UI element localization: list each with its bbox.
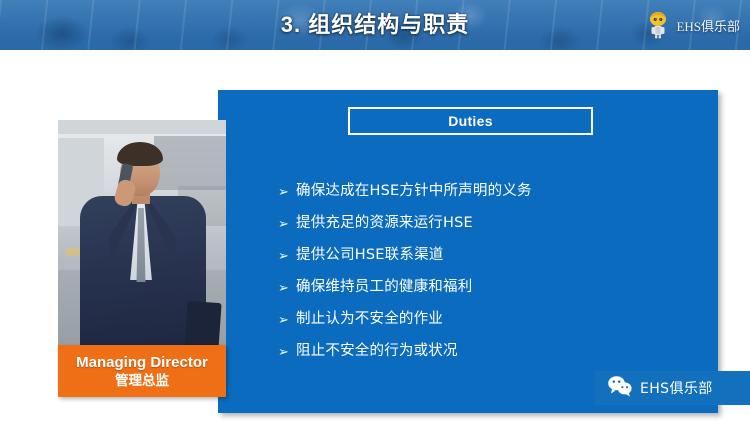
duties-title-box: Duties: [348, 107, 593, 135]
list-item-label: 确保维持员工的健康和福利: [296, 278, 472, 297]
caption-title-cn: 管理总监: [115, 372, 169, 390]
list-item: ➢ 阻止不安全的行为或状况: [278, 342, 698, 361]
wechat-watermark: EHS俱乐部: [595, 371, 750, 405]
caption-title-en: Managing Director: [76, 353, 208, 372]
arrow-bullet-icon: ➢: [278, 278, 296, 297]
page-title: 3. 组织结构与职责: [0, 7, 750, 39]
list-item: ➢ 确保达成在HSE方针中所声明的义务: [278, 182, 698, 201]
list-item-label: 确保达成在HSE方针中所声明的义务: [296, 182, 532, 201]
wechat-icon: [607, 375, 633, 402]
header-brand: EHS俱乐部: [646, 8, 740, 42]
duties-title: Duties: [448, 113, 493, 129]
arrow-bullet-icon: ➢: [278, 182, 296, 201]
list-item-label: 提供充足的资源来运行HSE: [296, 214, 473, 233]
duties-list: ➢ 确保达成在HSE方针中所声明的义务 ➢ 提供充足的资源来运行HSE ➢ 提供…: [278, 182, 698, 374]
arrow-bullet-icon: ➢: [278, 214, 296, 233]
list-item: ➢ 提供充足的资源来运行HSE: [278, 214, 698, 233]
list-item: ➢ 提供公司HSE联系渠道: [278, 246, 698, 265]
arrow-bullet-icon: ➢: [278, 310, 296, 329]
mascot-icon: [646, 11, 670, 39]
slide-canvas: 3. 组织结构与职责 EHS俱乐部: [0, 0, 750, 422]
slide-header: 3. 组织结构与职责 EHS俱乐部: [0, 0, 750, 50]
businessman-on-phone-photo-icon: [58, 120, 226, 346]
list-item: ➢ 确保维持员工的健康和福利: [278, 278, 698, 297]
arrow-bullet-icon: ➢: [278, 246, 296, 265]
arrow-bullet-icon: ➢: [278, 342, 296, 361]
list-item-label: 阻止不安全的行为或状况: [296, 342, 458, 361]
duties-panel: Duties ➢ 确保达成在HSE方针中所声明的义务 ➢ 提供充足的资源来运行H…: [218, 90, 718, 413]
list-item-label: 提供公司HSE联系渠道: [296, 246, 443, 265]
header-brand-label: EHS俱乐部: [676, 16, 740, 35]
photo-caption: Managing Director 管理总监: [58, 345, 226, 397]
wechat-watermark-label: EHS俱乐部: [640, 378, 713, 398]
businessman-photo: [58, 120, 226, 346]
list-item: ➢ 制止认为不安全的作业: [278, 310, 698, 329]
list-item-label: 制止认为不安全的作业: [296, 310, 443, 329]
